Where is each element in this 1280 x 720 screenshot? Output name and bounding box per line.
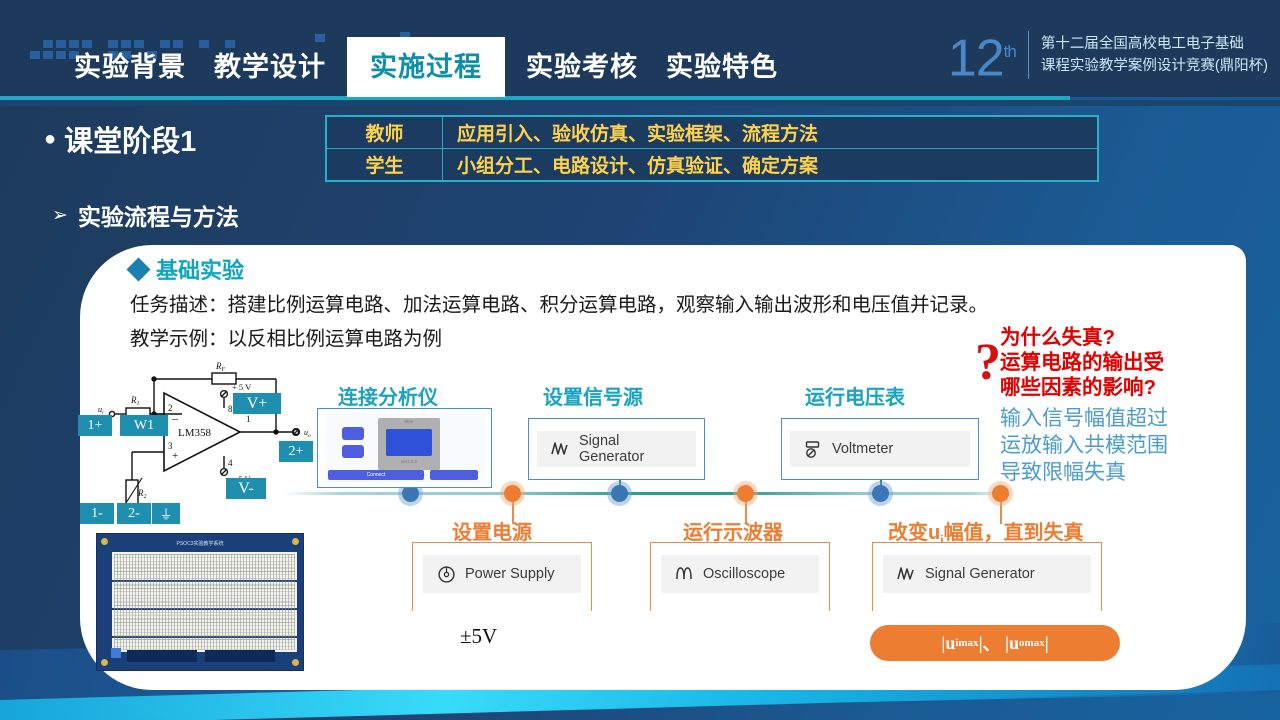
question-mark-icon: ?	[975, 337, 1001, 389]
logo-caption: 第十二届全国高校电工电子基础 课程实验教学案例设计竞赛(鼎阳杯)	[1041, 33, 1268, 77]
power-supply-icon	[437, 565, 456, 584]
analyzer-device-image: M3K ver1.5.5	[378, 418, 440, 470]
tag-w1: W1	[120, 415, 168, 436]
role-label-teacher: 教师	[327, 117, 443, 148]
role-content-student: 小组分工、电路设计、仿真验证、确定方案	[443, 149, 1097, 180]
timeline-dot-3[interactable]	[611, 485, 628, 502]
logo-number-text: 12	[948, 29, 1004, 87]
step-card-run-voltmeter: Voltmeter	[781, 418, 979, 480]
timeline-dot-2[interactable]	[504, 485, 521, 502]
step-title-set-signal-source: 设置信号源	[543, 381, 643, 410]
pill-ui-sub: imax	[955, 637, 978, 649]
tag-ch1-minus: 1-	[80, 503, 114, 524]
slide-root: 实验背景 教学设计 实施过程 实验考核 实验特色 12th 第十二届全国高校电工…	[0, 0, 1280, 720]
instrument-label: Voltmeter	[832, 441, 893, 457]
step-card-set-signal-source: Signal Generator	[528, 418, 705, 480]
logo-ordinal: th	[1004, 42, 1016, 61]
step-card-set-power: Power Supply	[412, 542, 592, 611]
timeline-dot-6[interactable]	[992, 485, 1009, 502]
svg-text:LM358: LM358	[178, 427, 212, 439]
breadboard-photo: PSOC3实验教学系统	[96, 533, 304, 671]
question-line-1: 为什么失真?	[1000, 325, 1164, 350]
question-line-3: 哪些因素的影响?	[1000, 375, 1164, 400]
process-timeline	[283, 492, 1008, 495]
step-card-change-ui-amplitude: Signal Generator	[872, 542, 1102, 611]
role-content-teacher: 应用引入、验收仿真、实验框架、流程方法	[443, 117, 1097, 148]
instrument-label: Signal Generator	[579, 433, 682, 465]
svg-text:uo: uo	[304, 428, 311, 439]
svg-text:+ 5 V: + 5 V	[232, 382, 252, 392]
analyzer-device-screen	[386, 429, 432, 456]
answer-line-3: 导致限幅失真	[1000, 459, 1168, 486]
tab-shiyanbeijing[interactable]: 实验背景	[60, 44, 200, 90]
tag-ground: ⏚	[152, 503, 180, 524]
step-title-run-oscilloscope: 运行示波器	[683, 516, 783, 545]
analyzer-version-label: ver1.5.5	[378, 459, 440, 464]
pill-uo-symbol: u	[1009, 633, 1019, 654]
answer-line-1: 输入信号幅值超过	[1000, 405, 1168, 432]
instrument-label: Signal Generator	[925, 566, 1035, 582]
screw-icon	[101, 659, 108, 666]
logo-caption-line1: 第十二届全国高校电工电子基础	[1041, 33, 1268, 55]
svg-text:+: +	[172, 450, 178, 462]
question-text: 为什么失真? 运算电路的输出受 哪些因素的影响?	[1000, 325, 1164, 400]
svg-text:–: –	[171, 411, 179, 425]
oscilloscope-icon	[675, 565, 694, 583]
logo-divider	[1028, 31, 1029, 79]
competition-logo: 12th 第十二届全国高校电工电子基础 课程实验教学案例设计竞赛(鼎阳杯)	[948, 26, 1268, 84]
question-line-2: 运算电路的输出受	[1000, 350, 1164, 375]
analyzer-mini-ui[interactable]: M3K ver1.5.5 Connect	[324, 413, 485, 483]
instrument-label: Oscilloscope	[703, 566, 785, 582]
screw-icon	[292, 659, 299, 666]
breadboard-holes	[114, 554, 295, 650]
teaching-example: 教学示例：以反相比例运算电路为例	[130, 322, 442, 351]
analyzer-secondary-button[interactable]	[430, 470, 478, 480]
tag-ch1-plus: 1+	[78, 415, 112, 436]
timeline-dot-5[interactable]	[872, 485, 889, 502]
tag-ch2-plus: 2+	[279, 441, 313, 462]
svg-text:4: 4	[228, 458, 233, 468]
answer-line-2: 运放输入共模范围	[1000, 432, 1168, 459]
tab-shiyankaohe[interactable]: 实验考核	[512, 44, 652, 90]
bullet-icon: ●	[44, 125, 56, 154]
timeline-dot-4[interactable]	[737, 485, 754, 502]
tab-shishiguocheng[interactable]: 实施过程	[348, 38, 504, 96]
stage-title: 课堂阶段1	[64, 118, 196, 160]
analyzer-model-label: M3K	[378, 419, 440, 424]
tab-shiyantese[interactable]: 实验特色	[652, 44, 792, 90]
nav-tabs[interactable]: 实验背景 教学设计 实施过程 实验考核 实验特色	[60, 44, 792, 90]
breadboard-title: PSOC3实验教学系统	[97, 540, 303, 547]
breadboard-connector	[127, 650, 197, 662]
basic-experiment-label: 基础实验	[156, 253, 244, 285]
waveform-icon	[897, 565, 916, 583]
analyzer-button-minus[interactable]	[342, 427, 364, 440]
waveform-icon	[551, 440, 570, 458]
table-row: 学生 小组分工、电路设计、仿真验证、确定方案	[327, 148, 1097, 180]
step-title-connect-analyzer: 连接分析仪	[338, 381, 438, 410]
pill-ui-symbol: u	[945, 633, 955, 654]
analyzer-button-plus[interactable]	[342, 445, 364, 458]
svg-text:R1: R1	[130, 395, 140, 407]
screw-icon	[101, 538, 108, 545]
instrument-label: Power Supply	[465, 566, 554, 582]
instrument-power-supply[interactable]: Power Supply	[423, 555, 581, 593]
section-subtitle-text: 实验流程与方法	[78, 198, 239, 232]
diamond-icon	[126, 257, 150, 281]
breadboard-connector	[205, 650, 275, 662]
step-title-set-power: 设置电源	[452, 516, 532, 545]
result-pill: |uimax|、 |uomax|	[870, 625, 1120, 661]
tab-jiaoxueshji[interactable]: 教学设计	[200, 44, 340, 90]
screw-icon	[292, 538, 299, 545]
voltage-note: ±5V	[460, 624, 497, 649]
svg-text:RF: RF	[215, 361, 226, 373]
instrument-oscilloscope[interactable]: Oscilloscope	[661, 555, 819, 593]
voltmeter-icon	[804, 440, 823, 459]
breadboard-led	[111, 648, 121, 658]
answer-text: 输入信号幅值超过 运放输入共模范围 导致限幅失真	[1000, 405, 1168, 486]
step-title-run-voltmeter: 运行电压表	[805, 381, 905, 410]
instrument-voltmeter[interactable]: Voltmeter	[790, 431, 970, 467]
basic-experiment-heading: 基础实验	[130, 253, 244, 285]
role-label-student: 学生	[327, 149, 443, 180]
tag-v-minus: V-	[226, 478, 266, 499]
stage-heading: ● 课堂阶段1	[44, 118, 196, 160]
task-description: 任务描述：搭建比例运算电路、加法运算电路、积分运算电路，观察输入输出波形和电压值…	[130, 288, 988, 317]
section-subtitle: ➢ 实验流程与方法	[52, 198, 239, 232]
step-card-run-oscilloscope: Oscilloscope	[650, 542, 830, 611]
tag-v-plus: V+	[233, 393, 281, 414]
arrow-icon: ➢	[52, 204, 68, 227]
table-row: 教师 应用引入、验收仿真、实验框架、流程方法	[327, 117, 1097, 148]
pill-separator: 、	[983, 630, 1001, 656]
instrument-signal-generator-2[interactable]: Signal Generator	[883, 555, 1091, 593]
instrument-signal-generator[interactable]: Signal Generator	[537, 431, 696, 467]
change-ui-prefix: 改变u	[888, 522, 940, 544]
header-separator-dark	[0, 100, 1280, 106]
roles-table: 教师 应用引入、验收仿真、实验框架、流程方法 学生 小组分工、电路设计、仿真验证…	[325, 115, 1099, 182]
step-card-connect-analyzer: M3K ver1.5.5 Connect	[317, 408, 492, 488]
logo-caption-line2: 课程实验教学案例设计竞赛(鼎阳杯)	[1041, 55, 1268, 77]
pill-uo-sub: omax	[1019, 637, 1045, 649]
change-ui-rest: 幅值，直到失真	[944, 522, 1084, 544]
analyzer-connect-button[interactable]: Connect	[328, 470, 424, 480]
logo-edition-number: 12th	[948, 26, 1016, 84]
svg-text:1: 1	[246, 414, 251, 424]
tag-ch2-minus: 2-	[117, 503, 151, 524]
